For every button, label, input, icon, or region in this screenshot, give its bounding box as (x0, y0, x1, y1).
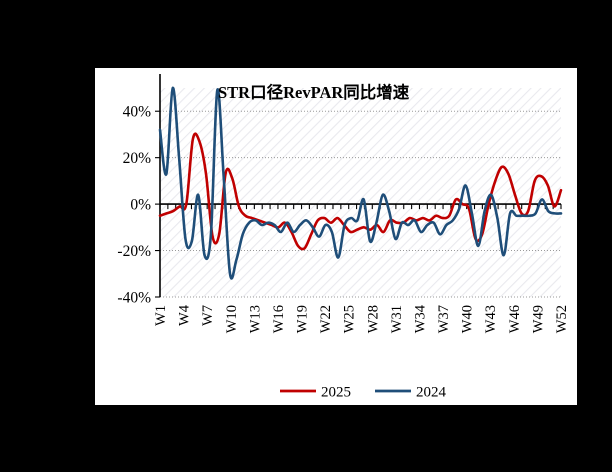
x-tick-label: W52 (554, 305, 570, 333)
x-tick-label: W49 (530, 305, 546, 333)
x-tick-label: W40 (460, 305, 476, 333)
x-tick-label: W37 (436, 305, 452, 333)
x-tick-label: W43 (483, 305, 499, 333)
y-tick-label: 20% (123, 150, 152, 167)
y-tick-label: 0% (130, 197, 151, 214)
x-tick-label: W31 (389, 305, 405, 333)
x-tick-label: W46 (507, 305, 523, 333)
x-tick-label: W10 (224, 305, 240, 333)
legend-label-2025[interactable]: 2025 (321, 385, 351, 401)
x-tick-label: W4 (177, 304, 193, 326)
x-tick-label: W28 (365, 305, 381, 333)
revpar-yoy-line-chart: -40%-20%0%20%40% W1W4W7W10W13W16W19W22W2… (95, 68, 577, 405)
chart-title: STR口径RevPAR同比增速 (218, 82, 410, 102)
x-tick-label: W34 (412, 304, 428, 333)
chart-figure: -40%-20%0%20%40% W1W4W7W10W13W16W19W22W2… (95, 68, 577, 405)
x-tick-label: W19 (295, 305, 311, 333)
y-tick-label: -20% (117, 243, 151, 260)
x-tick-label: W16 (271, 305, 287, 333)
chart-plot-wrapper: -40%-20%0%20%40% W1W4W7W10W13W16W19W22W2… (95, 68, 577, 405)
y-tick-label: -40% (117, 290, 151, 307)
legend-label-2024[interactable]: 2024 (416, 385, 447, 401)
x-tick-label: W13 (247, 305, 263, 333)
y-tick-label: 40% (123, 104, 152, 121)
x-tick-label: W1 (153, 305, 169, 326)
x-tick-label: W7 (200, 305, 216, 326)
x-tick-label: W25 (342, 305, 358, 333)
x-tick-label: W22 (318, 305, 334, 333)
